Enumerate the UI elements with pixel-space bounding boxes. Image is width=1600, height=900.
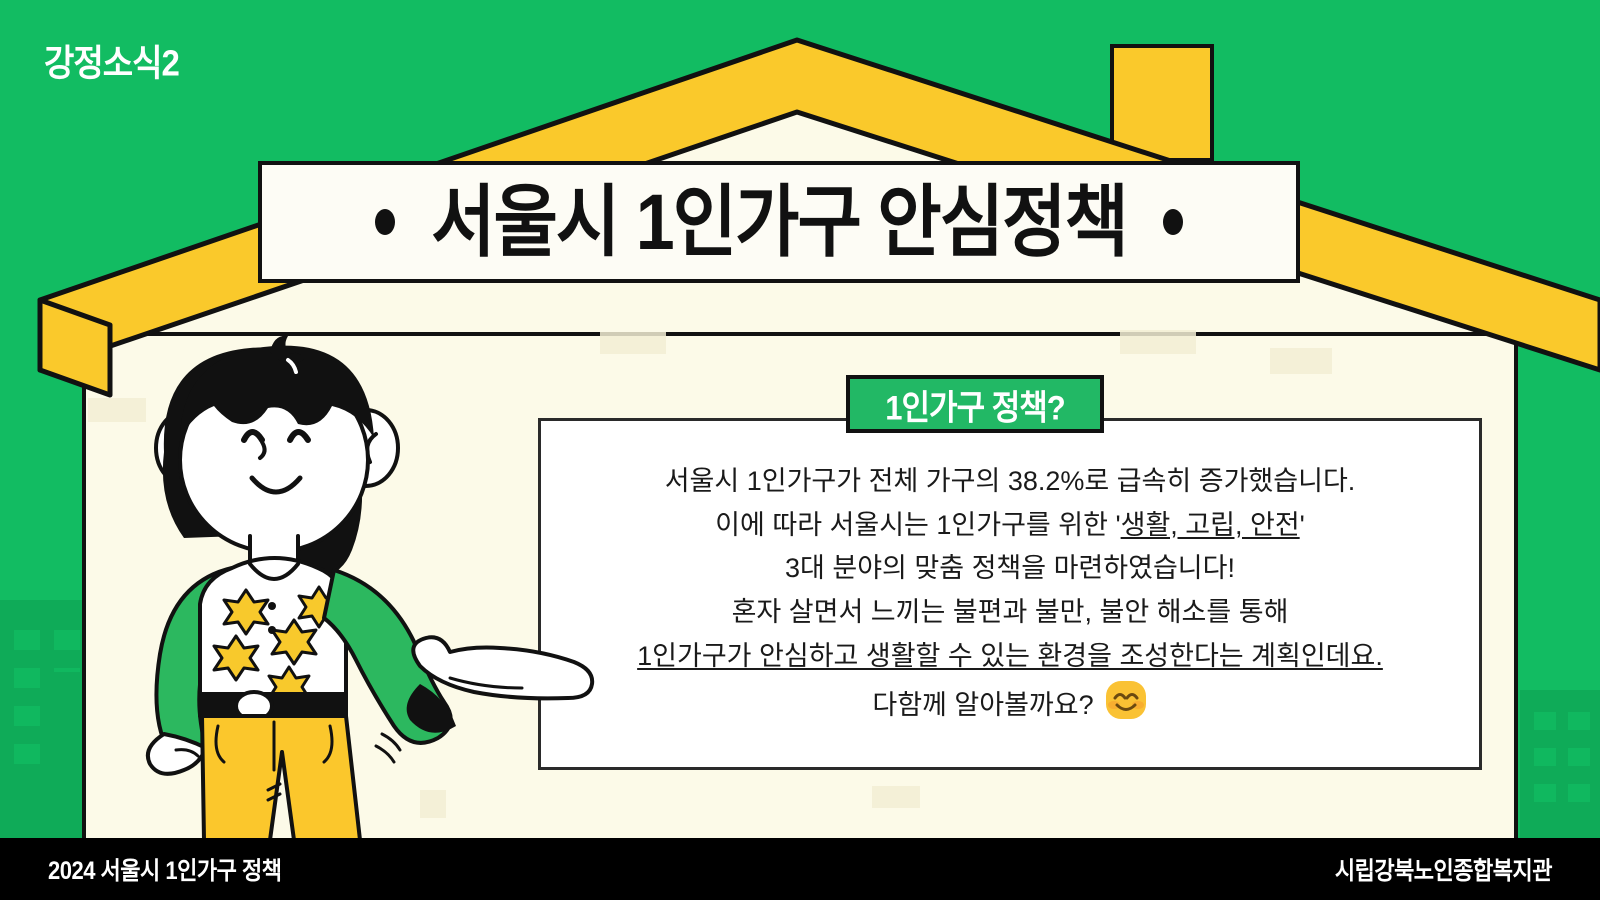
body-line-5: 1인가구가 안심하고 생활할 수 있는 환경을 조성한다는 계획인데요. (637, 635, 1383, 679)
title-bullet-left-icon (375, 209, 395, 235)
title-bullet-right-icon (1163, 209, 1183, 235)
body-line-6: 다함께 알아볼까요? (872, 678, 1147, 728)
character-illustration (120, 330, 680, 840)
smiling-face-icon (1104, 678, 1148, 722)
body-line-3: 3대 분야의 맞춤 정책을 마련하였습니다! (785, 547, 1235, 591)
building-window (1534, 784, 1556, 802)
poster-canvas: 강정소식2 서울시 1인가구 안심정책 서울시 1인가구가 전체 가구의 38.… (0, 0, 1600, 900)
background-building-left-2 (44, 672, 82, 840)
wall-note (1270, 348, 1332, 374)
building-window (14, 706, 40, 726)
status-badge: 1인가구 정책? (846, 375, 1104, 433)
footer-bar: 2024 서울시 1인가구 정책 시립강북노인종합복지관 (0, 838, 1600, 900)
body-line-2-highlight: 생활, 고립, 안전 (1121, 510, 1300, 540)
building-window (1568, 784, 1590, 802)
building-window (1568, 712, 1590, 730)
hand-right (413, 637, 592, 698)
badge-label: 1인가구 정책? (885, 379, 1064, 429)
house-chimney (1110, 44, 1214, 162)
building-window (14, 668, 40, 688)
brand-kicker: 강정소식2 (44, 34, 179, 87)
building-window (1534, 712, 1556, 730)
body-line-2: 이에 따라 서울시는 1인가구를 위한 '생활, 고립, 안전' (715, 504, 1305, 548)
building-window (14, 744, 40, 764)
building-window (54, 630, 80, 650)
building-window (1534, 748, 1556, 766)
body-line-2-post: ' (1300, 510, 1305, 540)
body-line-6-text: 다함께 알아볼까요? (872, 690, 1093, 720)
building-window (14, 630, 40, 650)
shirt-dot (268, 626, 276, 634)
body-line-1: 서울시 1인가구가 전체 가구의 38.2%로 급속히 증가했습니다. (665, 460, 1356, 504)
shirt-dot (268, 602, 276, 610)
footer-left-text: 2024 서울시 1인가구 정책 (48, 851, 281, 887)
wall-note (872, 786, 920, 808)
body-line-2-pre: 이에 따라 서울시는 1인가구를 위한 ' (715, 510, 1120, 540)
body-line-4: 혼자 살면서 느끼는 불편과 불만, 불안 해소를 통해 (732, 591, 1289, 635)
wall-note (1120, 330, 1196, 354)
pants (202, 716, 360, 840)
building-window (1568, 748, 1590, 766)
page-title: 서울시 1인가구 안심정책 (431, 183, 1127, 261)
footer-right-text: 시립강북노인종합복지관 (1335, 851, 1552, 887)
title-plate: 서울시 1인가구 안심정책 (258, 161, 1300, 283)
